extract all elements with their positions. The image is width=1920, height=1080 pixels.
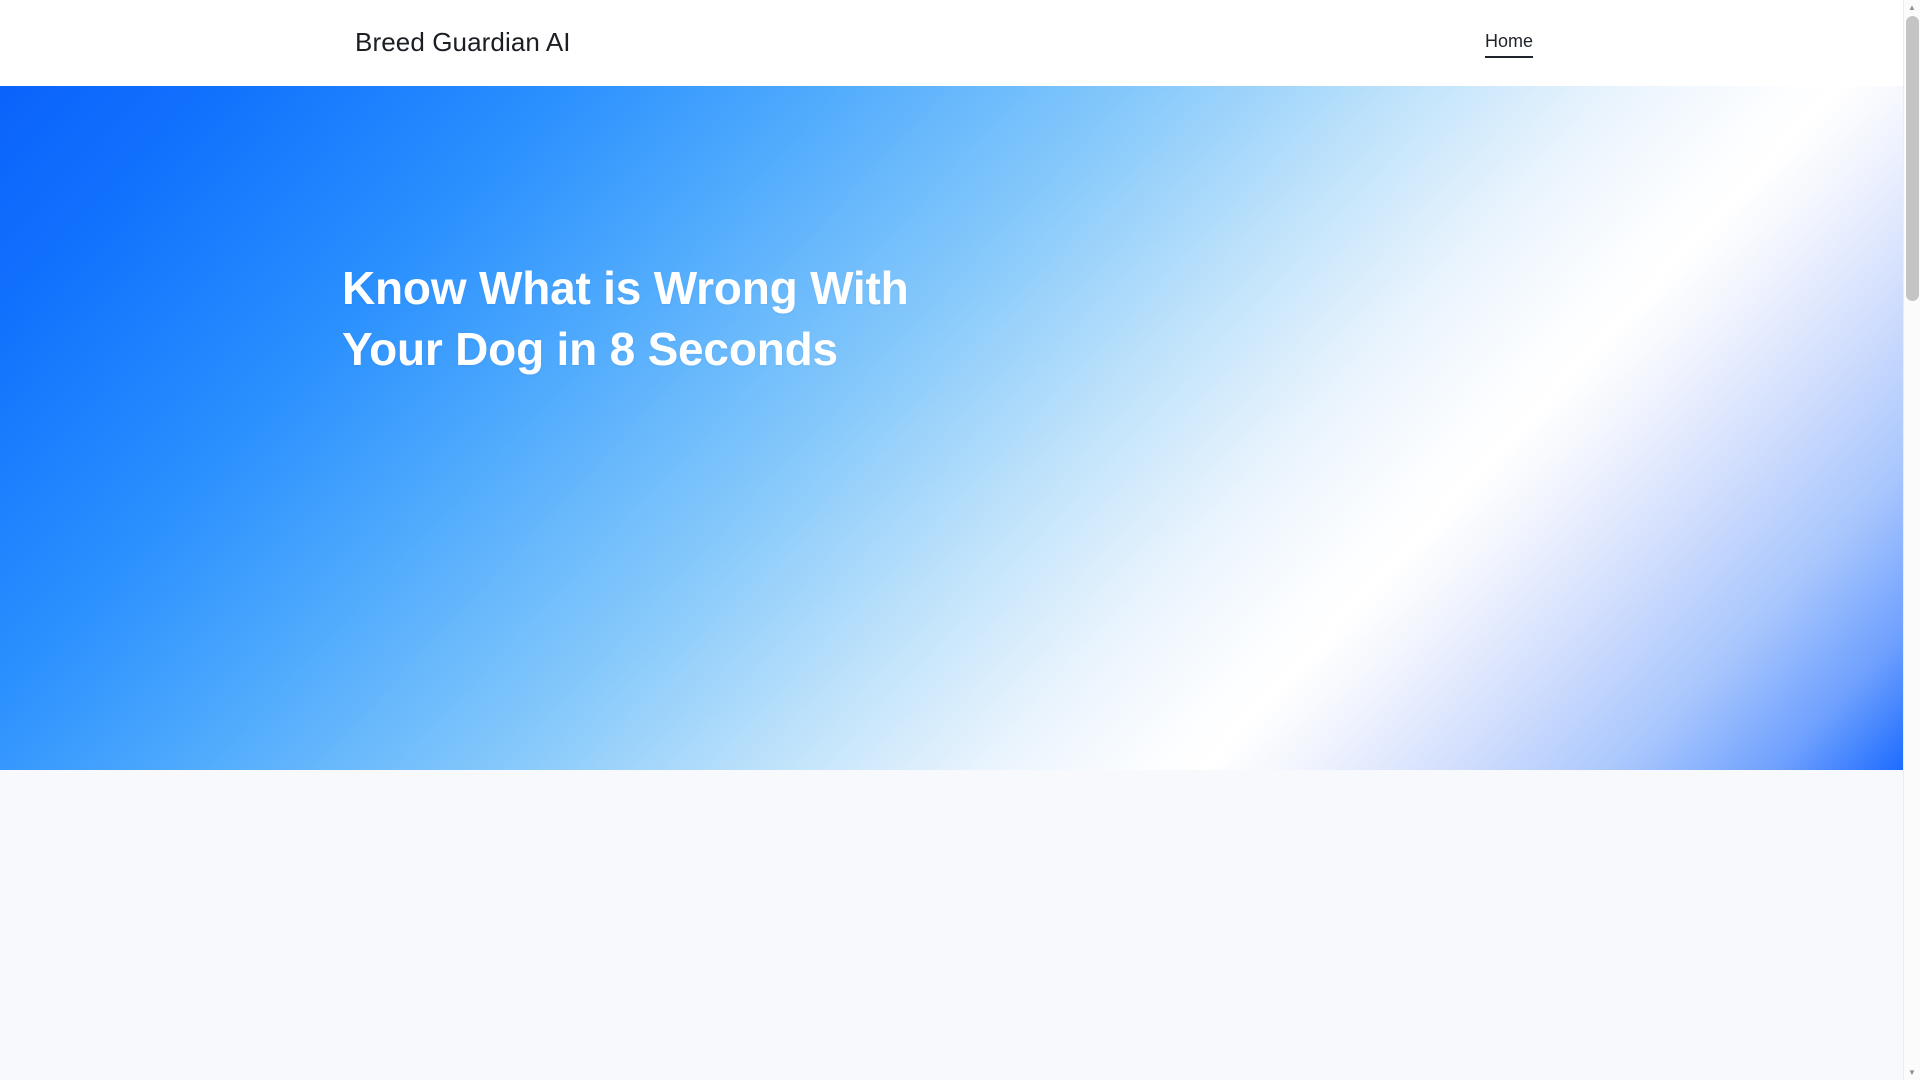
scrollbar-thumb[interactable] [1906, 16, 1919, 301]
scrollbar-up-arrow-icon[interactable]: ▲ [1904, 0, 1920, 15]
hero-section: Know What is Wrong With Your Dog in 8 Se… [0, 86, 1903, 770]
page-root: Breed Guardian AI Home Know What is Wron… [0, 0, 1903, 1080]
vertical-scrollbar[interactable]: ▲ ▼ [1903, 0, 1920, 1080]
hero-heading-line-2: Your Dog in 8 Seconds [342, 319, 1062, 380]
brand-logo[interactable]: Breed Guardian AI [355, 27, 571, 58]
site-header: Breed Guardian AI Home [0, 0, 1903, 86]
header-inner: Breed Guardian AI Home [0, 0, 1903, 86]
hero-content: Know What is Wrong With Your Dog in 8 Se… [0, 86, 1903, 770]
below-hero-section [0, 770, 1903, 1080]
hero-heading-line-1: Know What is Wrong With [342, 258, 1062, 319]
browser-viewport: Breed Guardian AI Home Know What is Wron… [0, 0, 1920, 1080]
nav-link-home[interactable]: Home [1485, 30, 1533, 55]
scrollbar-down-arrow-icon[interactable]: ▼ [1904, 1065, 1920, 1080]
hero-heading: Know What is Wrong With Your Dog in 8 Se… [342, 258, 1062, 380]
main-navigation: Home [1485, 30, 1533, 55]
